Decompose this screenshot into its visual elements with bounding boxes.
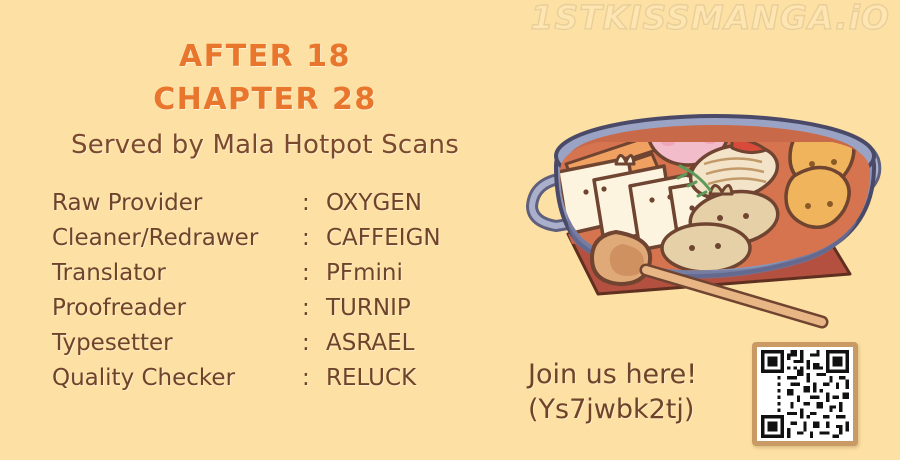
credit-role: Translator [52, 260, 302, 286]
credit-role: Raw Provider [52, 190, 302, 216]
credit-name: OXYGEN [326, 190, 482, 216]
credit-row: Typesetter : ASRAEL [52, 330, 482, 365]
credit-separator: : [302, 260, 326, 286]
invite-code[interactable]: (Ys7jwbk2tj) [528, 393, 697, 428]
credit-row: Cleaner/Redrawer : CAFFEIGN [52, 225, 482, 260]
credit-separator: : [302, 190, 326, 216]
fried-tofu-pouches [780, 66, 854, 228]
credit-role: Quality Checker [52, 365, 302, 391]
series-title: AFTER 18 [40, 36, 490, 79]
credit-role: Cleaner/Redrawer [52, 225, 302, 251]
credit-role: Proofreader [52, 295, 302, 321]
credit-separator: : [302, 365, 326, 391]
credit-role: Typesetter [52, 330, 302, 356]
credits-page: 1STKISSMANGA.iO [0, 0, 900, 460]
credit-name: PFmini [326, 260, 482, 286]
credit-row: Proofreader : TURNIP [52, 295, 482, 330]
kawaii-hotpot-illustration [520, 22, 900, 332]
join-us-block: Join us here! (Ys7jwbk2tj) [528, 358, 697, 427]
qr-code[interactable] [752, 342, 858, 446]
credit-row: Quality Checker : RELUCK [52, 365, 482, 400]
shiitake-mushrooms [602, 43, 738, 126]
credit-row: Raw Provider : OXYGEN [52, 190, 482, 225]
join-us-label: Join us here! [528, 358, 697, 393]
title-block: AFTER 18 CHAPTER 28 Served by Mala Hotpo… [40, 36, 490, 163]
scanlation-group-line: Served by Mala Hotpot Scans [40, 129, 490, 163]
credit-name: CAFFEIGN [326, 225, 482, 251]
credit-name: RELUCK [326, 365, 482, 391]
credit-name: ASRAEL [326, 330, 482, 356]
credit-separator: : [302, 295, 326, 321]
credit-row: Translator : PFmini [52, 260, 482, 295]
qr-code-matrix [757, 347, 853, 441]
chapter-title: CHAPTER 28 [40, 79, 490, 122]
credit-separator: : [302, 330, 326, 356]
credits-list: Raw Provider : OXYGEN Cleaner/Redrawer :… [52, 190, 482, 400]
credit-separator: : [302, 225, 326, 251]
enoki-mushrooms [742, 28, 826, 64]
credit-name: TURNIP [326, 295, 482, 321]
